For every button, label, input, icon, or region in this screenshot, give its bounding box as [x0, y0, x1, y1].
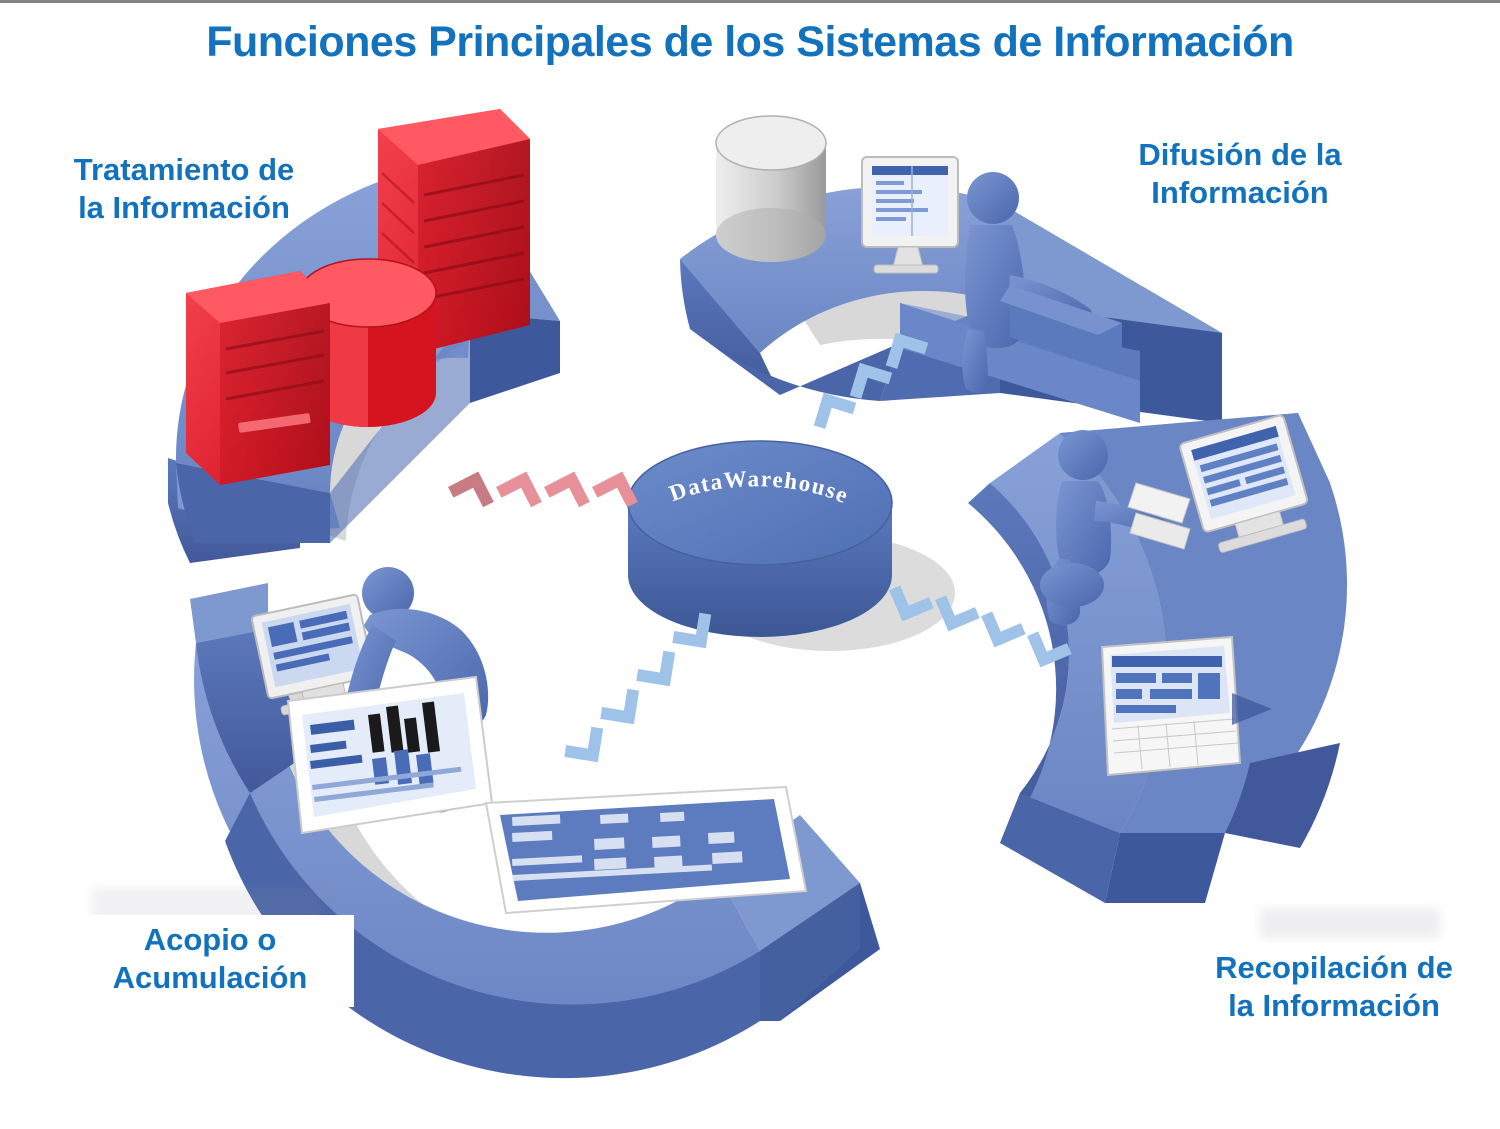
document-card-acopio: [288, 677, 492, 833]
storage-cylinder-grey: [716, 116, 826, 262]
quadrant-label-recopilacion-line2: la Información: [1169, 987, 1499, 1025]
quadrant-label-tratamiento[interactable]: Tratamiento de la Información: [34, 151, 334, 227]
quadrant-label-difusion[interactable]: Difusión de la Información: [1090, 136, 1390, 212]
quadrant-label-tratamiento-line2: la Información: [34, 189, 334, 227]
flow-from-acopio: [550, 595, 725, 776]
ghost-text-smudge-recopilacion: [1260, 908, 1440, 938]
data-table-card-acopio: [486, 787, 806, 913]
flow-to-tratamiento: [441, 464, 646, 525]
server-rack-short: [186, 271, 330, 485]
quadrant-label-acopio[interactable]: Acopio o Acumulación: [66, 915, 354, 1007]
slide-canvas: Funciones Principales de los Sistemas de…: [0, 0, 1500, 1129]
quadrant-label-tratamiento-line1: Tratamiento de: [34, 151, 334, 189]
quadrant-label-recopilacion[interactable]: Recopilación de la Información: [1155, 943, 1500, 1035]
quadrant-label-recopilacion-line1: Recopilación de: [1169, 949, 1499, 987]
quadrant-label-acopio-line1: Acopio o: [80, 921, 340, 959]
quadrant-recopilacion[interactable]: [968, 413, 1347, 903]
quadrant-label-difusion-line2: Información: [1090, 174, 1390, 212]
data-warehouse-cylinder[interactable]: DataWarehouse: [628, 441, 892, 637]
quadrant-label-acopio-line2: Acumulación: [80, 959, 340, 997]
quadrant-label-difusion-line1: Difusión de la: [1090, 136, 1390, 174]
